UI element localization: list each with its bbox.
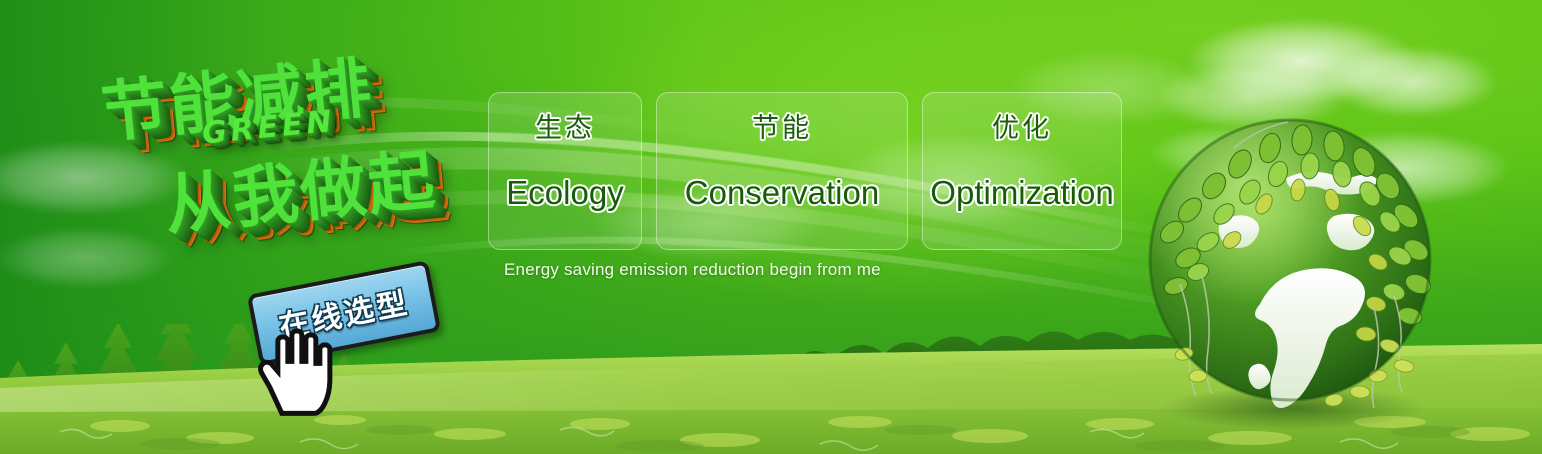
feature-card-en-label: Conservation (685, 176, 879, 209)
feature-card-conservation[interactable]: 节能 Conservation (656, 92, 908, 250)
feature-card-ecology[interactable]: 生态 Ecology (488, 92, 642, 250)
feature-card-cn-label: 节能 (752, 115, 812, 142)
green-energy-banner: 节能减排 GREEN 从我做起 在线选型 生态 Ecology 节能 Conse… (0, 0, 1542, 454)
feature-card-en-label: Optimization (930, 176, 1113, 209)
feature-card-cn-label: 生态 (535, 115, 595, 142)
cta-label: 在线选型 (276, 286, 412, 346)
feature-card-en-label: Ecology (506, 176, 623, 209)
leafy-earth-globe-icon (1128, 108, 1458, 438)
headline-3d: 节能减排 GREEN 从我做起 (82, 15, 502, 282)
tagline: Energy saving emission reduction begin f… (504, 260, 881, 280)
feature-card-cn-label: 优化 (992, 115, 1052, 142)
feature-card-optimization[interactable]: 优化 Optimization (922, 92, 1122, 250)
feature-card-list: 生态 Ecology 节能 Conservation 优化 Optimizati… (488, 92, 1122, 250)
